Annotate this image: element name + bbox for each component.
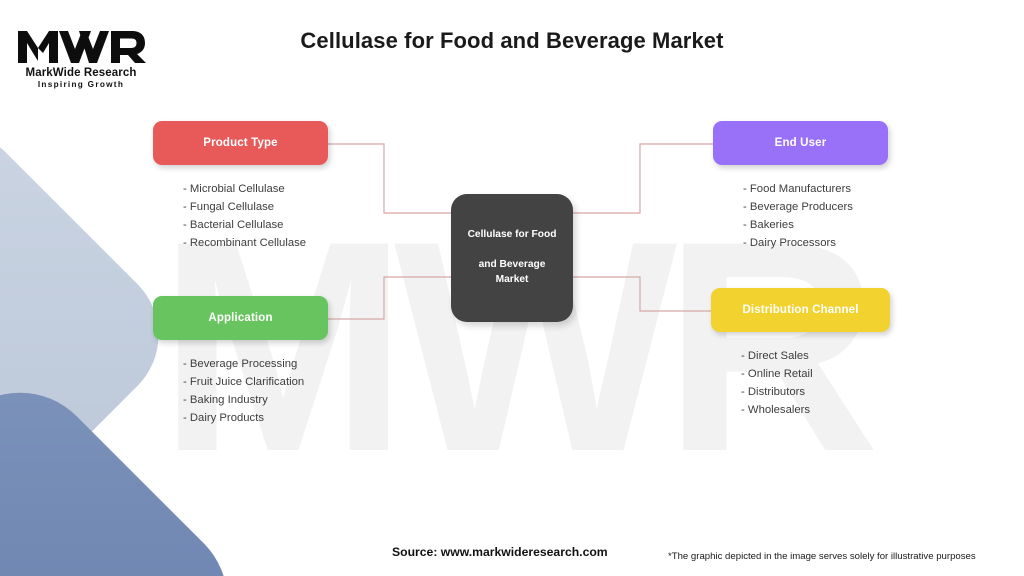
list-item: - Food Manufacturers bbox=[743, 181, 888, 199]
list-item: - Dairy Processors bbox=[743, 235, 888, 253]
list-item: - Bacterial Cellulase bbox=[183, 217, 328, 235]
infographic-canvas: MWR MarkWide Research Inspiring Growth C… bbox=[0, 0, 1024, 576]
list-item: - Dairy Products bbox=[183, 410, 328, 428]
disclaimer-note: *The graphic depicted in the image serve… bbox=[668, 551, 976, 562]
branch-distribution-channel: Distribution Channel - Direct Sales - On… bbox=[711, 288, 890, 419]
branch-header-product-type[interactable]: Product Type bbox=[153, 121, 328, 165]
list-item: - Fruit Juice Clarification bbox=[183, 374, 328, 392]
list-item: - Microbial Cellulase bbox=[183, 181, 328, 199]
branch-items-end-user: - Food Manufacturers - Beverage Producer… bbox=[713, 181, 888, 252]
list-item: - Recombinant Cellulase bbox=[183, 235, 328, 253]
list-item: - Baking Industry bbox=[183, 392, 328, 410]
connector-end-user bbox=[572, 144, 716, 213]
branch-header-distribution-channel[interactable]: Distribution Channel bbox=[711, 288, 890, 332]
branch-product-type: Product Type - Microbial Cellulase - Fun… bbox=[153, 121, 328, 252]
center-node[interactable]: Cellulase for Foodand Beverage Market bbox=[451, 194, 573, 322]
list-item: - Beverage Processing bbox=[183, 356, 328, 374]
branch-end-user: End User - Food Manufacturers - Beverage… bbox=[713, 121, 888, 252]
branch-items-product-type: - Microbial Cellulase - Fungal Cellulase… bbox=[153, 181, 328, 252]
list-item: - Distributors bbox=[741, 384, 890, 402]
center-node-label: Cellulase for Foodand Beverage Market bbox=[451, 228, 573, 287]
center-node-line2: and Beverage Market bbox=[459, 258, 565, 288]
branch-items-application: - Beverage Processing - Fruit Juice Clar… bbox=[153, 356, 328, 427]
branch-items-distribution-channel: - Direct Sales - Online Retail - Distrib… bbox=[711, 348, 890, 419]
branch-header-application[interactable]: Application bbox=[153, 296, 328, 340]
source-label: Source: www.markwideresearch.com bbox=[392, 545, 608, 559]
list-item: - Fungal Cellulase bbox=[183, 199, 328, 217]
branch-header-end-user[interactable]: End User bbox=[713, 121, 888, 165]
list-item: - Wholesalers bbox=[741, 402, 890, 420]
center-node-line1: Cellulase for Food bbox=[459, 228, 565, 243]
list-item: - Beverage Producers bbox=[743, 199, 888, 217]
branch-application: Application - Beverage Processing - Frui… bbox=[153, 296, 328, 427]
connector-application bbox=[312, 277, 452, 319]
list-item: - Direct Sales bbox=[741, 348, 890, 366]
connector-product-type bbox=[307, 144, 452, 213]
connector-distribution-channel bbox=[572, 277, 714, 311]
branch-label-application: Application bbox=[208, 312, 272, 324]
branch-label-end-user: End User bbox=[775, 137, 827, 149]
branch-label-distribution-channel: Distribution Channel bbox=[742, 304, 858, 316]
list-item: - Online Retail bbox=[741, 366, 890, 384]
list-item: - Bakeries bbox=[743, 217, 888, 235]
branch-label-product-type: Product Type bbox=[203, 137, 277, 149]
